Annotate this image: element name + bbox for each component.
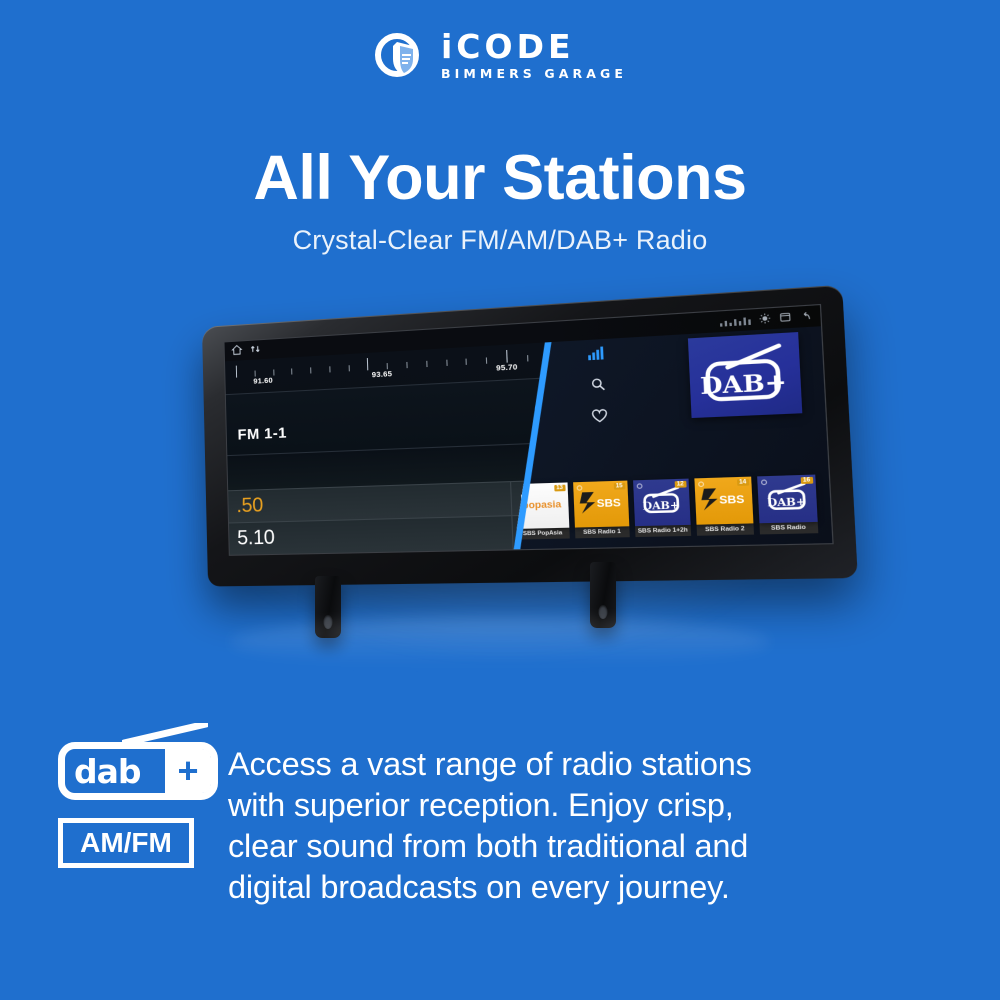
page-title: All Your Stations [0, 142, 1000, 214]
svg-text:SBS: SBS [719, 493, 745, 506]
station-artwork: 16DAB+ [757, 475, 818, 524]
device-bezel: 91.6093.6595.7097.7599.80 FM 1-1 87.50 .… [202, 285, 858, 587]
brightness-icon[interactable] [758, 309, 771, 330]
tuner-scale-label: 93.65 [372, 369, 393, 379]
mounting-bracket-right [590, 562, 616, 628]
station-number-badge: 16 [800, 477, 813, 484]
preset-frequency: .50 [236, 494, 263, 518]
station-name: SBS PopAsia [516, 528, 570, 540]
station-art-label: DAB+ [639, 485, 684, 520]
dab-plus-badge: dab + [58, 726, 218, 800]
station-select-dot-icon [636, 483, 642, 489]
home-icon[interactable] [231, 342, 242, 361]
description-line: clear sound from both traditional and [228, 826, 908, 867]
description-line: digital broadcasts on every journey. [228, 867, 908, 908]
station-name: SBS Radio [759, 522, 818, 535]
format-badges: dab + AM/FM [58, 726, 230, 868]
dab-badge-word: dab [74, 755, 141, 788]
station-name: SBS Radio 2 [696, 523, 753, 535]
station-number-badge: 15 [613, 483, 625, 490]
up-down-arrows-icon[interactable] [249, 341, 262, 360]
surface-reflection [230, 618, 770, 666]
fm-band-label: FM 1-1 [237, 424, 287, 443]
station-number-badge: 13 [554, 485, 566, 492]
station-tile[interactable]: 12DAB+SBS Radio 1+2h [633, 479, 691, 538]
product-image: 91.6093.6595.7097.7599.80 FM 1-1 87.50 .… [175, 318, 825, 688]
signal-bars-icon[interactable] [588, 345, 606, 365]
svg-text:DAB+: DAB+ [767, 495, 806, 509]
amfm-badge: AM/FM [58, 818, 194, 868]
station-select-dot-icon [576, 485, 582, 491]
window-icon[interactable] [779, 308, 792, 329]
dab-album-art: DAB+ [688, 332, 802, 418]
station-tile[interactable]: 15SBSSBS Radio 1 [573, 481, 630, 539]
svg-text:SBS: SBS [596, 497, 621, 510]
back-arrow-icon[interactable] [799, 306, 812, 327]
preset-button[interactable]: 5.10 [229, 516, 514, 555]
amfm-badge-label: AM/FM [80, 827, 172, 859]
svg-text:DAB+: DAB+ [642, 499, 679, 512]
station-artwork: 15SBS [573, 481, 629, 528]
description-line: with superior reception. Enjoy crisp, [228, 785, 908, 826]
station-art-label: SBS [699, 484, 748, 517]
station-name: SBS Radio 1 [575, 526, 630, 538]
station-select-dot-icon [761, 479, 767, 485]
preset-frequency: 5.10 [237, 526, 275, 550]
station-select-dot-icon [698, 481, 704, 487]
station-tile[interactable]: 16DAB+SBS Radio [757, 475, 818, 535]
brand-logo: iCODE BIMMERS GARAGE [0, 28, 1000, 82]
dab-art-label: DAB+ [700, 368, 788, 400]
station-artwork: 14SBS [694, 477, 753, 525]
dab-station-tiles[interactable]: 13popasiaSBS PopAsia15SBSSBS Radio 112DA… [514, 475, 818, 540]
station-tile[interactable]: 14SBSSBS Radio 2 [694, 477, 754, 536]
tuner-scale-label: 91.60 [253, 376, 273, 386]
station-art-label: SBS [578, 488, 625, 521]
brand-name: iCODE [441, 30, 575, 63]
signal-dots-icon [720, 316, 751, 327]
search-icon[interactable] [590, 377, 607, 398]
tuner-scale-label: 95.70 [496, 362, 518, 373]
shield-g-emblem-icon [373, 28, 427, 82]
tuner-tick [367, 358, 368, 370]
page-subtitle: Crystal-Clear FM/AM/DAB+ Radio [0, 225, 1000, 256]
dab-tool-sidebar[interactable] [582, 345, 615, 429]
tuner-tick [236, 366, 237, 378]
station-number-badge: 12 [674, 481, 686, 488]
tuner-tick [506, 350, 508, 363]
device-screen[interactable]: 91.6093.6595.7097.7599.80 FM 1-1 87.50 .… [224, 304, 834, 556]
dab-badge-plus: + [165, 749, 211, 793]
svg-text:popasia: popasia [522, 498, 562, 510]
station-name: SBS Radio 1+2h [635, 525, 691, 537]
station-art-label: DAB+ [763, 481, 811, 517]
brand-tagline: BIMMERS GARAGE [441, 68, 627, 81]
station-artwork: 12DAB+ [633, 479, 691, 527]
station-number-badge: 14 [736, 479, 748, 486]
head-unit-device: 91.6093.6595.7097.7599.80 FM 1-1 87.50 .… [202, 285, 858, 587]
heart-icon[interactable] [591, 409, 608, 429]
description-line: Access a vast range of radio stations [228, 744, 908, 785]
feature-description: Access a vast range of radio stationswit… [228, 744, 908, 908]
